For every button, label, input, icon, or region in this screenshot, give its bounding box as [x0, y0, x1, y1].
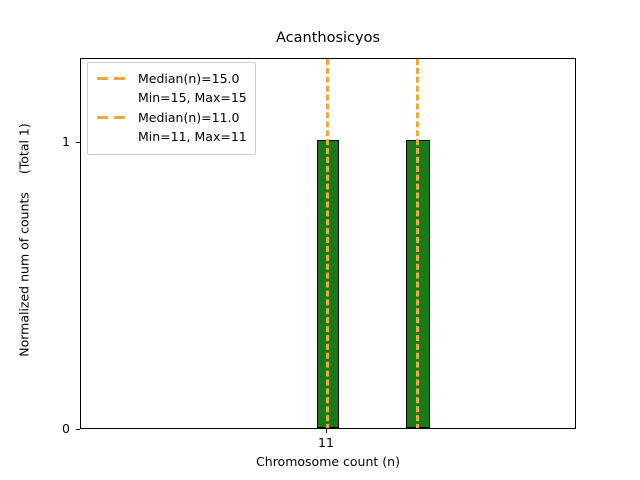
y-tick-mark-0: [76, 429, 80, 430]
x-tick-label-11: 11: [318, 435, 334, 450]
median-line-11: [326, 59, 329, 429]
dashed-line-icon: [96, 72, 130, 86]
median-line-15: [416, 59, 419, 429]
y-tick-label-0: 0: [62, 423, 70, 435]
y-axis-label-container: Normalized num of counts(Total 1): [0, 0, 48, 480]
x-tick-mark-11: [326, 429, 327, 433]
dashed-line-icon: [96, 111, 130, 125]
matplotlib-figure: Acanthosicyos Normalized num of counts(T…: [0, 0, 640, 480]
legend-label-median-15-line1: Median(n)=15.0: [138, 71, 239, 86]
legend-label-median-11-line2: Min=11, Max=11: [138, 127, 247, 146]
page-title: Acanthosicyos: [80, 30, 576, 46]
y-axis-label-line2: (Total 1): [16, 123, 33, 174]
legend-label-median-11-line1: Median(n)=11.0: [138, 110, 239, 125]
legend-item-median-11[interactable]: Median(n)=11.0 Min=11, Max=11: [96, 108, 247, 146]
legend-label-median-15: Median(n)=15.0 Min=15, Max=15: [138, 69, 247, 107]
legend-label-median-11: Median(n)=11.0 Min=11, Max=11: [138, 108, 247, 146]
y-axis-label: Normalized num of counts(Total 1): [16, 123, 33, 357]
legend-item-median-15[interactable]: Median(n)=15.0 Min=15, Max=15: [96, 69, 247, 107]
legend-label-median-15-line2: Min=15, Max=15: [138, 88, 247, 107]
plot-area: Median(n)=15.0 Min=15, Max=15 Median(n)=…: [80, 58, 576, 429]
x-axis-label: Chromosome count (n): [80, 454, 576, 469]
y-axis-label-line1: Normalized num of counts: [17, 192, 32, 357]
legend[interactable]: Median(n)=15.0 Min=15, Max=15 Median(n)=…: [87, 62, 256, 155]
y-tick-label-1: 1: [62, 136, 70, 148]
